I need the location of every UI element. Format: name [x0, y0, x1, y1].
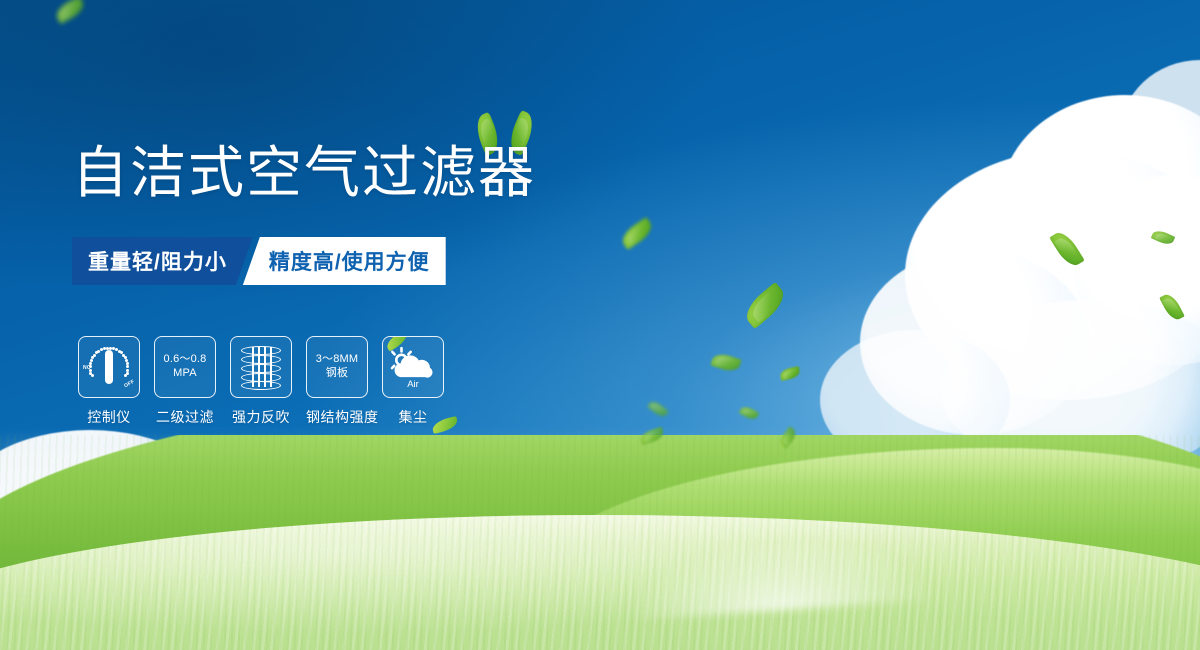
- feature-icon-box: 3～8MM 钢板: [306, 336, 368, 398]
- feature-caption: 控制仪: [78, 407, 140, 427]
- feature-item-steel[interactable]: 3～8MM 钢板 钢结构强度: [306, 336, 368, 427]
- subtitle-segment-secondary: 精度高/使用方便: [243, 237, 446, 285]
- subtitle-bar: 重量轻/阻力小 精度高/使用方便: [72, 237, 460, 285]
- subtitle-segment-primary: 重量轻/阻力小: [72, 237, 253, 285]
- steel-plate-text-icon: 3～8MM 钢板: [316, 353, 359, 381]
- gauge-needle: [105, 350, 113, 384]
- feature-caption: 二级过滤: [154, 407, 216, 427]
- gauge-tick: [124, 374, 127, 377]
- cloud-air-icon: Air: [388, 345, 438, 389]
- gauge-tick: [93, 354, 96, 357]
- feature-caption: 强力反吹: [230, 407, 292, 427]
- air-label: Air: [407, 379, 419, 389]
- feature-item-dust[interactable]: Air 集尘: [382, 336, 444, 427]
- feature-caption-text: 集尘: [399, 409, 428, 425]
- filter-stack-icon: [240, 344, 282, 390]
- feature-caption: 集尘: [382, 407, 444, 427]
- steel-thickness: 3～8MM: [316, 353, 359, 367]
- pressure-value: 0.6～0.8: [164, 353, 207, 367]
- gauge-tick: [126, 365, 129, 368]
- feature-caption: 钢结构强度: [306, 407, 368, 427]
- feature-icon-box: NO OFF: [78, 336, 140, 398]
- gauge-icon: NO OFF: [83, 341, 135, 393]
- feature-item-filtration[interactable]: 0.6～0.8 MPA 二级过滤: [154, 336, 216, 427]
- steel-material: 钢板: [316, 367, 359, 381]
- feature-list: NO OFF 控制仪 0.6～0.8 MPA 二级过滤: [78, 336, 444, 427]
- gauge-tick: [91, 356, 94, 359]
- feature-icon-box: 0.6～0.8 MPA: [154, 336, 216, 398]
- feature-item-control[interactable]: NO OFF 控制仪: [78, 336, 140, 427]
- product-banner: 自洁式空气过滤器 重量轻/阻力小 精度高/使用方便 NO OFF 控制仪: [0, 0, 1200, 650]
- gauge-tick: [90, 359, 93, 362]
- gauge-tick: [91, 374, 94, 377]
- gauge-label-off: OFF: [123, 379, 135, 389]
- cloud-shape: [395, 356, 432, 377]
- banner-title: 自洁式空气过滤器: [72, 145, 536, 201]
- feature-icon-box: [230, 336, 292, 398]
- caption-leaf-icon: [431, 416, 459, 434]
- gauge-tick: [89, 369, 92, 372]
- pressure-unit: MPA: [164, 367, 207, 381]
- cloud-svg: Air: [388, 345, 438, 389]
- feature-icon-box: Air: [382, 336, 444, 398]
- pressure-text-icon: 0.6～0.8 MPA: [164, 353, 207, 381]
- feature-item-blowback[interactable]: 强力反吹: [230, 336, 292, 427]
